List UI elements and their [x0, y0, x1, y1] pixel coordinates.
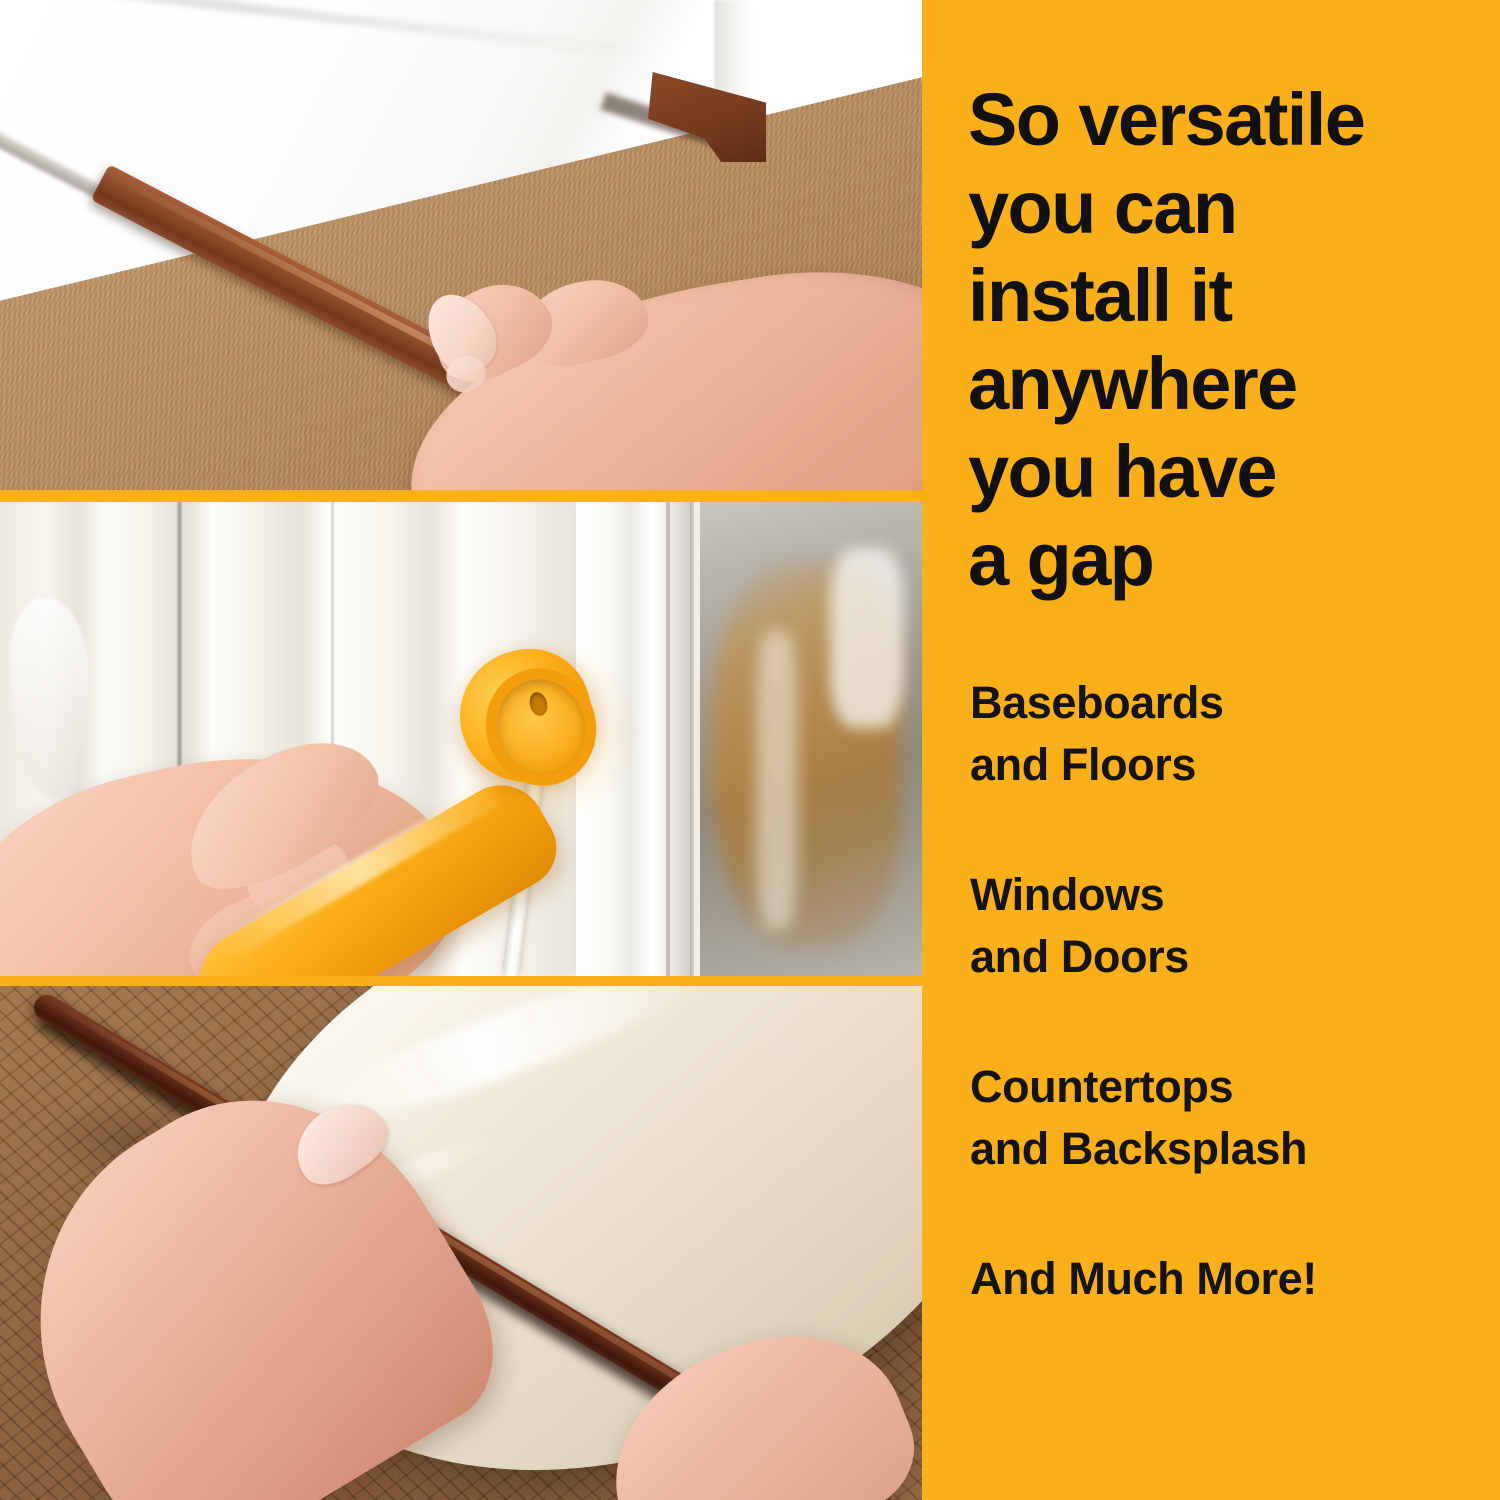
- panel-divider: [0, 976, 922, 986]
- benefit-item-windows: Windows and Doors: [970, 864, 1490, 988]
- text-column: So versatile you can install it anywhere…: [922, 0, 1500, 1500]
- benefit-list: Baseboards and Floors Windows and Doors …: [970, 672, 1490, 1310]
- countertop-photo: [0, 986, 922, 1500]
- glass-highlight: [756, 630, 798, 930]
- jamb-groove: [690, 502, 694, 976]
- window-door-photo: [0, 502, 922, 976]
- panel-divider: [0, 490, 922, 502]
- benefit-item-more: And Much More!: [970, 1248, 1490, 1310]
- photo-column: [0, 0, 922, 1500]
- product-infographic: So versatile you can install it anywhere…: [0, 0, 1500, 1500]
- glass-highlight: [830, 548, 904, 728]
- benefit-item-baseboards: Baseboards and Floors: [970, 672, 1490, 796]
- baseboard-floor-photo: [0, 0, 922, 490]
- jamb-groove: [666, 502, 670, 976]
- benefit-item-countertops: Countertops and Backsplash: [970, 1056, 1490, 1180]
- headline: So versatile you can install it anywhere…: [968, 76, 1488, 604]
